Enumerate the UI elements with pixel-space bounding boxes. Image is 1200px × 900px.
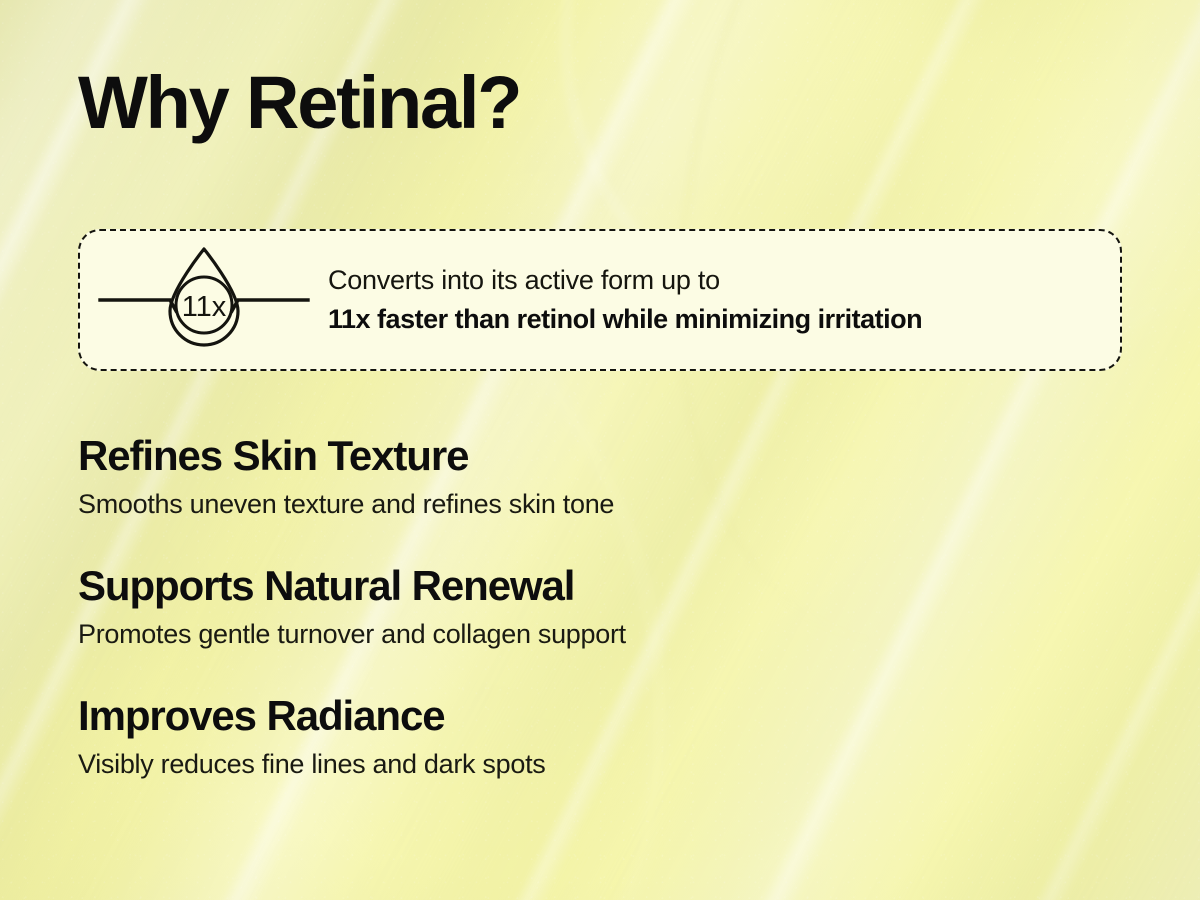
benefit-list: Refines Skin Texture Smooths uneven text…	[78, 432, 1138, 781]
benefit-item-supports-natural-renewal: Supports Natural Renewal Promotes gentle…	[78, 562, 1138, 652]
benefit-item-improves-radiance: Improves Radiance Visibly reduces fine l…	[78, 692, 1138, 782]
claim-line-1: Converts into its active form up to	[328, 263, 1102, 298]
claim-callout: 11x Converts into its active form up to …	[78, 229, 1122, 371]
claim-text-group: Converts into its active form up to 11x …	[328, 263, 1120, 337]
benefit-description: Promotes gentle turnover and collagen su…	[78, 618, 1138, 652]
benefit-description: Visibly reduces fine lines and dark spot…	[78, 748, 1138, 782]
benefit-description: Smooths uneven texture and refines skin …	[78, 488, 1138, 522]
benefit-title: Refines Skin Texture	[78, 432, 1138, 479]
content-layer: Why Retinal? 11x Converts into	[0, 0, 1200, 900]
claim-line-2: 11x faster than retinol while minimizing…	[328, 302, 1102, 337]
droplet-11x-icon: 11x	[80, 241, 328, 359]
benefit-title: Improves Radiance	[78, 692, 1138, 739]
page-title: Why Retinal?	[78, 66, 520, 140]
droplet-icon-label: 11x	[182, 291, 227, 323]
product-benefits-graphic: Why Retinal? 11x Converts into	[0, 0, 1200, 900]
benefit-title: Supports Natural Renewal	[78, 562, 1138, 609]
benefit-item-refines-skin-texture: Refines Skin Texture Smooths uneven text…	[78, 432, 1138, 522]
